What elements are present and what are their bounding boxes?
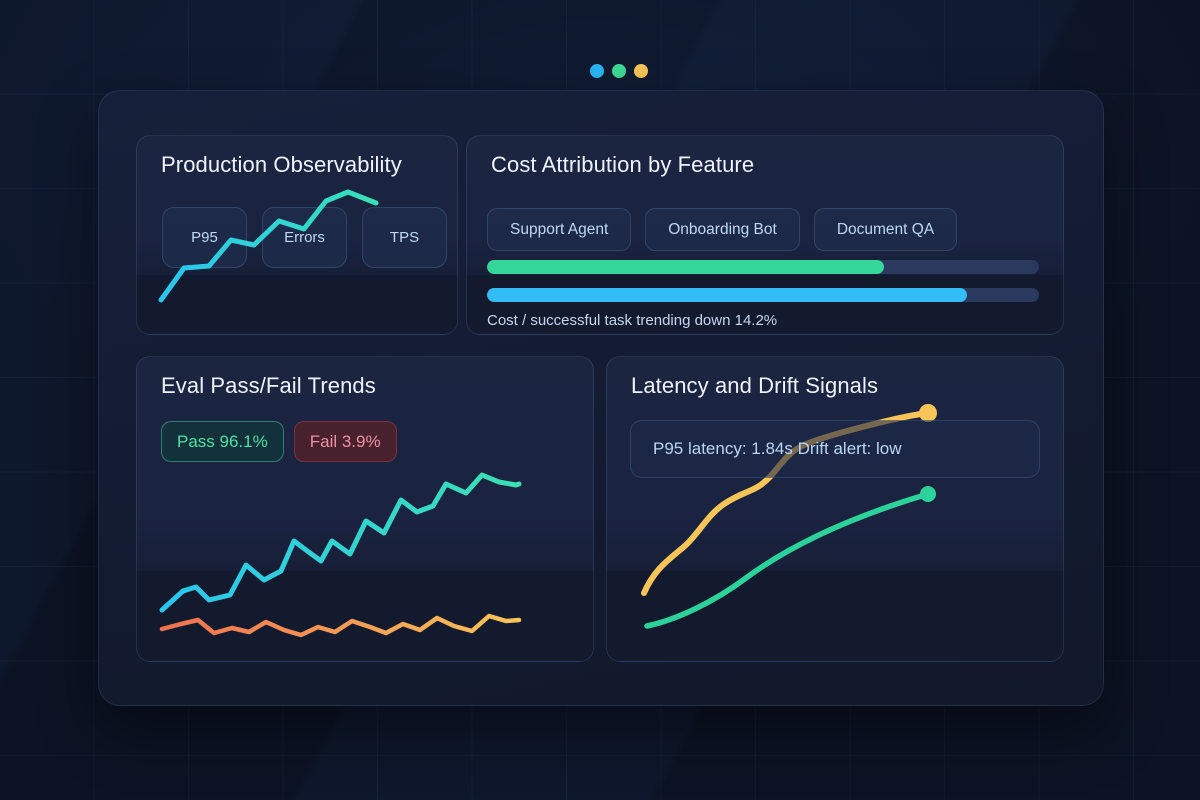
chip-onboarding-bot[interactable]: Onboarding Bot bbox=[645, 208, 800, 251]
eval-status-badges: Pass 96.1% Fail 3.9% bbox=[161, 421, 397, 462]
cyan-dot[interactable] bbox=[590, 64, 604, 78]
latency-info-box: P95 latency: 1.84s Drift alert: low bbox=[630, 420, 1040, 478]
cost-progress-bars bbox=[487, 260, 1039, 302]
card-latency-drift: Latency and Drift Signals bbox=[606, 356, 1064, 662]
latency-info-text: P95 latency: 1.84s Drift alert: low bbox=[653, 439, 902, 459]
screen: Production Observability P95 Errors TPS … bbox=[0, 0, 1200, 800]
chip-document-qa[interactable]: Document QA bbox=[814, 208, 957, 251]
latency-title: Latency and Drift Signals bbox=[631, 373, 878, 399]
status-badge-fail[interactable]: Fail 3.9% bbox=[294, 421, 397, 462]
chip-support-agent[interactable]: Support Agent bbox=[487, 208, 631, 251]
chip-p95[interactable]: P95 bbox=[162, 207, 247, 268]
green-dot[interactable] bbox=[612, 64, 626, 78]
observability-metric-chips: P95 Errors TPS bbox=[162, 207, 447, 268]
progress-fill-onboarding-bot bbox=[487, 288, 967, 302]
amber-dot[interactable] bbox=[634, 64, 648, 78]
chip-tps[interactable]: TPS bbox=[362, 207, 447, 268]
cost-feature-chips: Support Agent Onboarding Bot Document QA bbox=[487, 208, 957, 251]
cost-title: Cost Attribution by Feature bbox=[491, 152, 754, 178]
window-controls bbox=[590, 64, 648, 78]
card-eval-trends: Eval Pass/Fail Trends bbox=[136, 356, 594, 662]
progress-track-onboarding-bot bbox=[487, 288, 1039, 302]
page-title: Production Observability bbox=[161, 152, 402, 178]
cost-note: Cost / successful task trending down 14.… bbox=[487, 312, 777, 329]
chip-errors[interactable]: Errors bbox=[262, 207, 347, 268]
progress-fill-support-agent bbox=[487, 260, 884, 274]
eval-title: Eval Pass/Fail Trends bbox=[161, 373, 376, 399]
progress-track-support-agent bbox=[487, 260, 1039, 274]
status-badge-pass[interactable]: Pass 96.1% bbox=[161, 421, 284, 462]
